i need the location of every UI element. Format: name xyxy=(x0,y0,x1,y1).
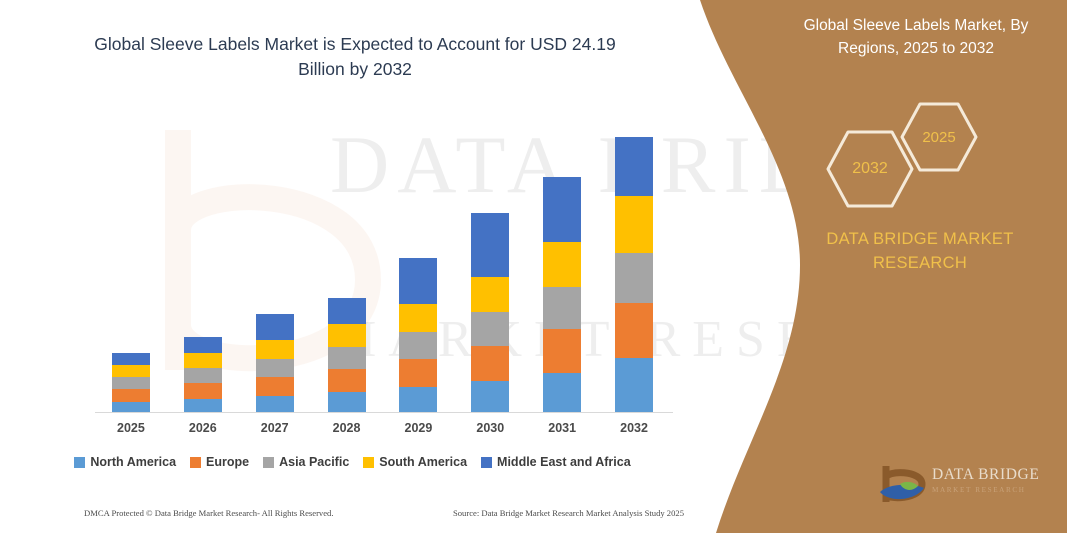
bar-segment xyxy=(256,340,294,359)
bar-segment xyxy=(256,314,294,340)
bar-segment xyxy=(184,399,222,413)
x-axis-label-2032: 2032 xyxy=(598,421,670,435)
x-axis-label-2030: 2030 xyxy=(454,421,526,435)
chart-panel: Global Sleeve Labels Market is Expected … xyxy=(0,0,705,533)
bar-segment xyxy=(112,353,150,365)
bar-segment xyxy=(328,324,366,347)
x-axis-label-2029: 2029 xyxy=(382,421,454,435)
bar-segment xyxy=(112,377,150,389)
x-axis-labels: 20252026202720282029203020312032 xyxy=(95,421,670,443)
bar-segment xyxy=(184,353,222,368)
bar-segment xyxy=(256,377,294,396)
hexagon-group: 2032 2025 xyxy=(820,100,1020,220)
brand-panel-title: Global Sleeve Labels Market, By Regions,… xyxy=(772,14,1060,61)
bar-2029 xyxy=(399,258,437,413)
bar-segment xyxy=(256,396,294,413)
legend-swatch-icon xyxy=(363,457,374,468)
bar-segment xyxy=(543,329,581,373)
bar-2032 xyxy=(615,137,653,413)
bar-segment xyxy=(543,177,581,242)
x-axis-line xyxy=(95,412,673,413)
bar-segment xyxy=(615,303,653,358)
x-axis-label-2028: 2028 xyxy=(311,421,383,435)
stacked-bar-chart xyxy=(95,120,670,413)
legend-swatch-icon xyxy=(263,457,274,468)
bar-segment xyxy=(184,383,222,399)
legend-item-2[interactable]: Asia Pacific xyxy=(263,455,349,469)
chart-legend: North AmericaEuropeAsia PacificSouth Ame… xyxy=(0,455,705,469)
legend-item-4[interactable]: Middle East and Africa xyxy=(481,455,631,469)
bar-segment xyxy=(471,312,509,346)
x-axis-label-2026: 2026 xyxy=(167,421,239,435)
hexagon-2025-label: 2025 xyxy=(922,129,955,146)
bar-2028 xyxy=(328,298,366,413)
footer-copyright: DMCA Protected © Data Bridge Market Rese… xyxy=(84,508,334,518)
page-title: Global Sleeve Labels Market is Expected … xyxy=(70,32,640,83)
logo-subtitle: MARKET RESEARCH xyxy=(932,486,1026,494)
bar-segment xyxy=(543,287,581,329)
bar-segment xyxy=(615,137,653,196)
bar-segment xyxy=(471,346,509,381)
footer-source: Source: Data Bridge Market Research Mark… xyxy=(453,508,684,518)
bar-segment xyxy=(471,381,509,413)
bar-segment xyxy=(471,213,509,277)
bar-segment xyxy=(615,358,653,413)
bar-segment xyxy=(112,389,150,402)
bar-segment xyxy=(184,368,222,383)
bar-segment xyxy=(328,392,366,413)
data-bridge-b-icon xyxy=(878,462,930,508)
bar-segment xyxy=(399,387,437,413)
x-axis-label-2031: 2031 xyxy=(526,421,598,435)
bar-segment xyxy=(399,258,437,304)
bar-segment xyxy=(328,298,366,324)
hexagon-2032-label: 2032 xyxy=(852,160,888,178)
logo-name: DATA BRIDGE xyxy=(932,466,1039,484)
footer: DMCA Protected © Data Bridge Market Rese… xyxy=(84,508,684,518)
bar-segment xyxy=(328,347,366,369)
bar-segment xyxy=(112,365,150,377)
bar-segment xyxy=(184,337,222,353)
data-bridge-logo: DATA BRIDGE MARKET RESEARCH xyxy=(878,462,1048,508)
infographic-canvas: DATA BRIDGE MARKET RESEARCH Global Sleev… xyxy=(0,0,1067,533)
bar-segment xyxy=(615,253,653,303)
legend-label: South America xyxy=(379,455,467,469)
bar-2025 xyxy=(112,353,150,413)
bar-segment xyxy=(471,277,509,312)
legend-label: Middle East and Africa xyxy=(497,455,631,469)
bar-segment xyxy=(399,359,437,387)
bar-segment xyxy=(399,332,437,359)
hexagon-2025: 2025 xyxy=(898,100,980,174)
legend-swatch-icon xyxy=(74,457,85,468)
brand-name: DATA BRIDGE MARKET RESEARCH xyxy=(790,228,1050,276)
legend-label: Europe xyxy=(206,455,249,469)
x-axis-label-2025: 2025 xyxy=(95,421,167,435)
bar-segment xyxy=(543,373,581,413)
bar-segment xyxy=(615,196,653,253)
legend-swatch-icon xyxy=(190,457,201,468)
legend-item-3[interactable]: South America xyxy=(363,455,467,469)
bar-segment xyxy=(256,359,294,377)
bar-segment xyxy=(399,304,437,332)
bar-2031 xyxy=(543,177,581,413)
legend-item-1[interactable]: Europe xyxy=(190,455,249,469)
bar-segment xyxy=(543,242,581,287)
bar-segment xyxy=(328,369,366,392)
legend-label: Asia Pacific xyxy=(279,455,349,469)
bar-2030 xyxy=(471,213,509,413)
bar-2026 xyxy=(184,337,222,413)
bar-2027 xyxy=(256,314,294,413)
legend-item-0[interactable]: North America xyxy=(74,455,176,469)
legend-swatch-icon xyxy=(481,457,492,468)
legend-label: North America xyxy=(90,455,176,469)
x-axis-label-2027: 2027 xyxy=(239,421,311,435)
